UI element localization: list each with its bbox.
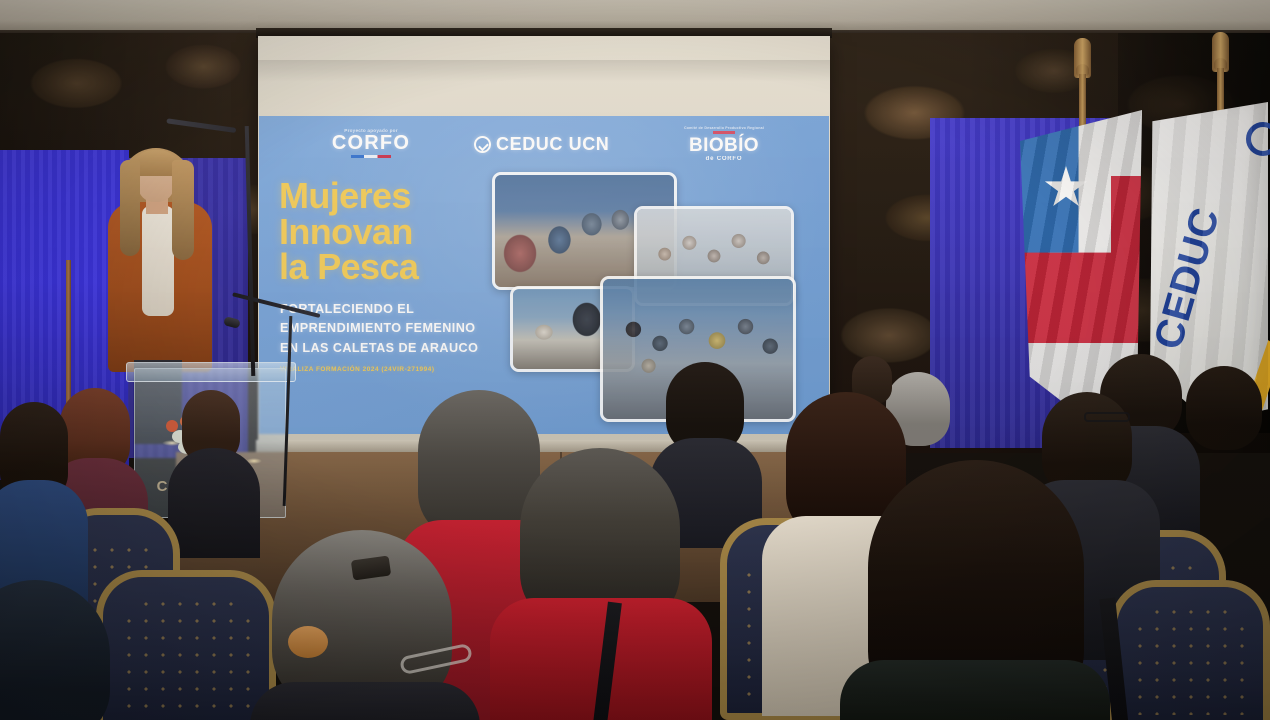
corfo-kicker: Proyecto apoyado por <box>306 128 436 133</box>
audience-body <box>168 448 260 558</box>
audience-body <box>250 682 480 720</box>
logo-corfo: Proyecto apoyado por CORFO <box>306 128 436 158</box>
ceduc-wordmark: CEDUC UCN <box>496 134 609 155</box>
corfo-flag-bar <box>351 155 391 158</box>
slide-headline: Mujeres Innovan la Pesca <box>279 178 509 285</box>
check-circle-icon <box>474 136 491 153</box>
flag-pole-finial-ceduc <box>1212 32 1229 72</box>
audience-body <box>840 660 1110 720</box>
biobio-wordmark: BIOBÍO <box>659 136 789 155</box>
headline-line-3: la Pesca <box>279 249 509 285</box>
logo-biobio: Comité de Desarrollo Productivo Regional… <box>659 126 789 162</box>
audience-head <box>1186 366 1262 450</box>
headline-line-2: Innovan <box>279 214 509 250</box>
flag-pole-finial-chile <box>1074 38 1091 78</box>
corfo-wordmark: CORFO <box>306 133 436 154</box>
biobio-sub: de CORFO <box>659 156 789 162</box>
chair <box>96 570 276 720</box>
chair <box>1110 580 1270 720</box>
biobio-kicker: Comité de Desarrollo Productivo Regional <box>659 126 789 130</box>
eyeglasses-icon <box>1084 412 1130 422</box>
podium-microphone <box>223 316 241 329</box>
seated-audience <box>0 330 1270 720</box>
logo-ceduc-ucn: CEDUC UCN <box>474 134 609 155</box>
presentation-scene: Proyecto apoyado por CORFO CEDUC UCN Com… <box>0 0 1270 720</box>
headline-line-1: Mujeres <box>279 178 509 214</box>
biobio-red-bar <box>713 131 735 134</box>
screen-crease <box>258 60 830 82</box>
slide-logo-row: Proyecto apoyado por CORFO CEDUC UCN Com… <box>259 126 829 168</box>
hair-scrunchie <box>288 626 328 658</box>
